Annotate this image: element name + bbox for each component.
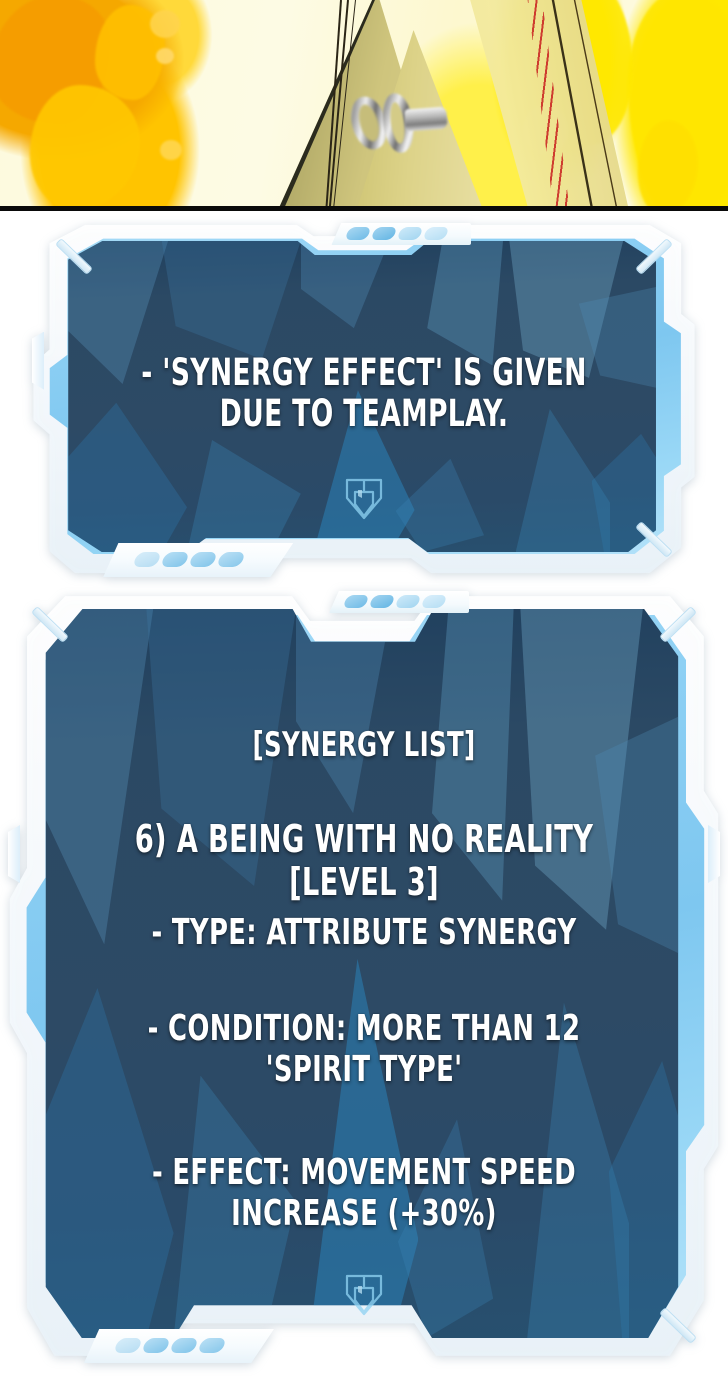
bracket-pill	[169, 1338, 199, 1353]
notch-pill	[394, 595, 421, 608]
bottom-bracket-decoration	[103, 543, 293, 577]
bracket-pill	[188, 552, 218, 567]
notch-pill	[420, 595, 447, 608]
notch-pill	[368, 595, 395, 608]
notch-pill	[423, 227, 450, 240]
synergy-condition-line: - CONDITION: MORE THAN 12 'SPIRIT TYPE'	[84, 1008, 644, 1090]
top-notch-decoration	[329, 591, 469, 613]
synergy-note-panel: - 'SYNERGY EFFECT' IS GIVEN DUE TO TEAMP…	[38, 232, 690, 564]
synergy-list-title: [SYNERGY LIST]	[84, 726, 644, 765]
bracket-pill	[113, 1338, 143, 1353]
flame-spark	[150, 10, 180, 38]
synergy-list-panel: [SYNERGY LIST] 6) A BEING WITH NO REALIT…	[14, 600, 714, 1350]
bottom-bracket-decoration	[84, 1329, 274, 1363]
comic-page: - 'SYNERGY EFFECT' IS GIVEN DUE TO TEAMP…	[0, 0, 728, 1397]
notch-pill	[397, 227, 424, 240]
chevron-emblem-icon	[341, 1272, 387, 1316]
notch-pill	[345, 227, 372, 240]
bracket-pill	[132, 552, 162, 567]
top-notch-decoration	[331, 223, 471, 245]
comic-art-panel	[0, 0, 728, 211]
side-notch-left	[32, 332, 44, 390]
flame-spark	[160, 140, 182, 160]
side-notch-left	[8, 825, 20, 883]
crystal-facet	[187, 440, 301, 552]
crystal-facet	[427, 241, 503, 365]
flame-spark	[156, 48, 174, 64]
crystal-facet	[162, 241, 301, 359]
bracket-pill	[160, 552, 190, 567]
bracket-pill	[197, 1338, 227, 1353]
synergy-note-text: - 'SYNERGY EFFECT' IS GIVEN DUE TO TEAMP…	[103, 352, 625, 435]
bracket-pill	[216, 552, 246, 567]
synergy-type-line: - TYPE: ATTRIBUTE SYNERGY	[84, 912, 644, 953]
side-notch-right	[708, 825, 720, 883]
piercing-stud	[404, 107, 447, 132]
synergy-effect-line: - EFFECT: MOVEMENT SPEED INCREASE (+30%)	[84, 1152, 644, 1234]
chevron-emblem-icon	[341, 476, 387, 520]
synergy-entry-name: 6) A BEING WITH NO REALITY [LEVEL 3]	[84, 818, 644, 905]
crystal-facet	[396, 459, 484, 552]
notch-pill	[342, 595, 369, 608]
notch-pill	[371, 227, 398, 240]
bracket-pill	[141, 1338, 171, 1353]
